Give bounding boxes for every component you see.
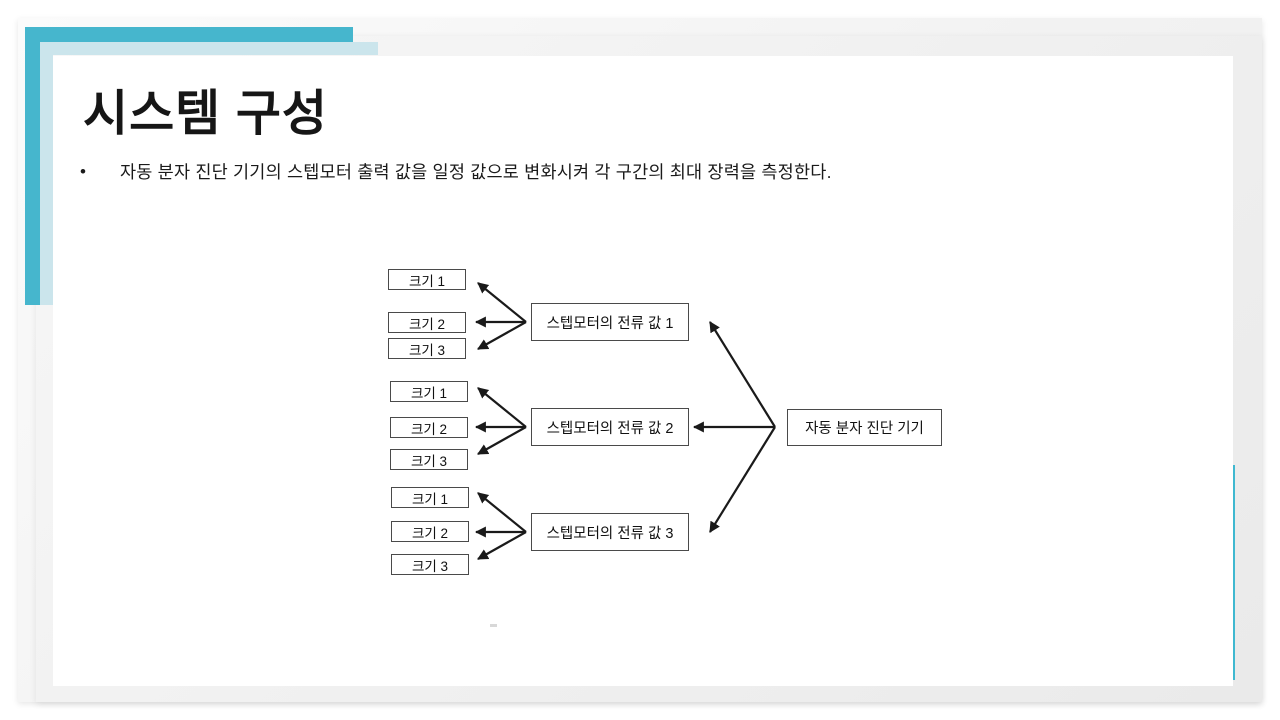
diagram-node-motor-current: 스텝모터의 전류 값 2 (531, 408, 689, 446)
stray-mark (490, 624, 497, 627)
diagram-arrows-layer (53, 56, 1233, 686)
diagram-node-size: 크기 1 (391, 487, 469, 508)
diagram-node-size: 크기 2 (388, 312, 466, 333)
slide-content-card: 시스템 구성 • 자동 분자 진단 기기의 스텝모터 출력 값을 일정 값으로 … (53, 56, 1233, 686)
diagram-node-motor-current: 스텝모터의 전류 값 3 (531, 513, 689, 551)
diagram-node-size: 크기 1 (390, 381, 468, 402)
system-architecture-diagram: 크기 1 크기 2 크기 3 스텝모터의 전류 값 1 크기 1 크기 2 크기… (53, 56, 1233, 686)
diagram-node-size: 크기 3 (391, 554, 469, 575)
diagram-node-size: 크기 3 (388, 338, 466, 359)
diagram-node-size: 크기 3 (390, 449, 468, 470)
presentation-slide: 시스템 구성 • 자동 분자 진단 기기의 스텝모터 출력 값을 일정 값으로 … (0, 0, 1280, 720)
diagram-node-motor-current: 스텝모터의 전류 값 1 (531, 303, 689, 341)
diagram-node-size: 크기 2 (391, 521, 469, 542)
diagram-node-size: 크기 1 (388, 269, 466, 290)
diagram-node-size: 크기 2 (390, 417, 468, 438)
diagram-node-root-device: 자동 분자 진단 기기 (787, 409, 942, 446)
